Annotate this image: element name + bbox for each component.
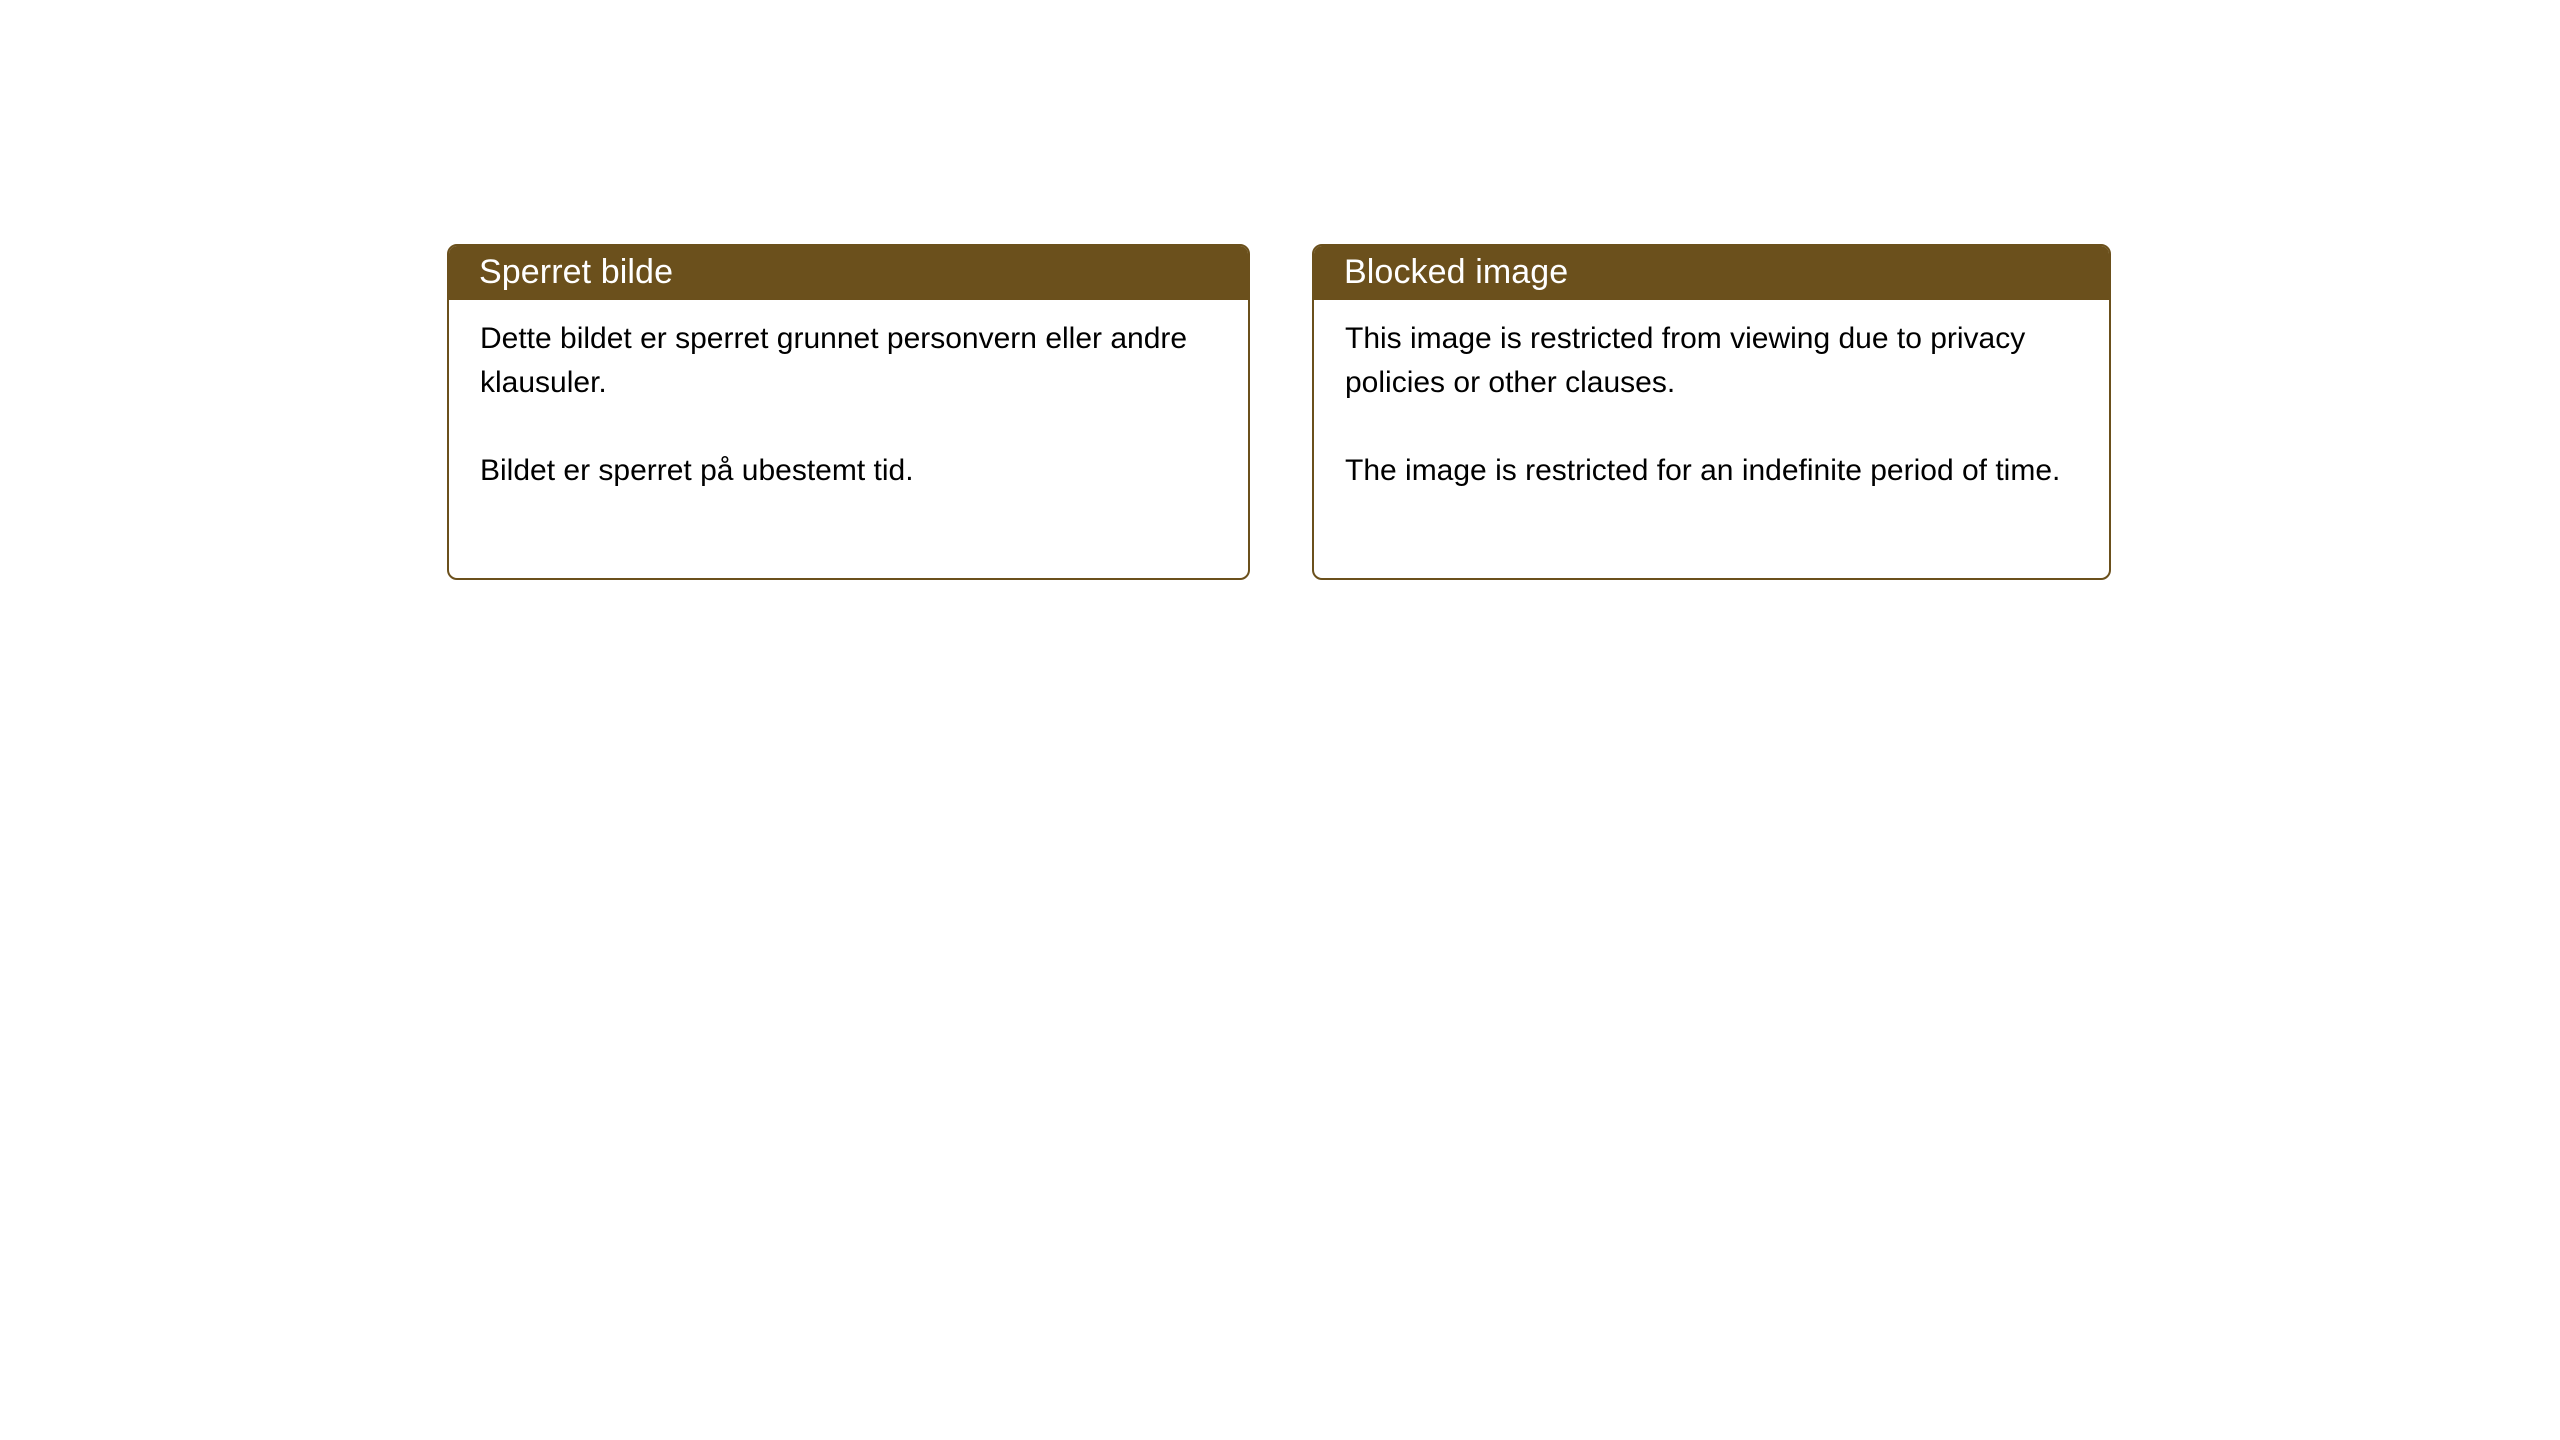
blocked-image-notice-card-en: Blocked image This image is restricted f… (1312, 244, 2111, 580)
card-body-no: Dette bildet er sperret grunnet personve… (449, 300, 1248, 493)
card-header-en: Blocked image (1312, 244, 2111, 300)
card-paragraph-duration-en: The image is restricted for an indefinit… (1345, 449, 2079, 493)
page-canvas: Sperret bilde Dette bildet er sperret gr… (0, 0, 2560, 1440)
card-body-en: This image is restricted from viewing du… (1314, 300, 2109, 493)
card-title-en: Blocked image (1344, 255, 1568, 289)
card-header-no: Sperret bilde (447, 244, 1250, 300)
card-paragraph-reason-no: Dette bildet er sperret grunnet personve… (480, 317, 1218, 405)
blocked-image-notice-card-no: Sperret bilde Dette bildet er sperret gr… (447, 244, 1250, 580)
card-paragraph-reason-en: This image is restricted from viewing du… (1345, 317, 2079, 405)
card-title-no: Sperret bilde (479, 255, 673, 289)
card-paragraph-duration-no: Bildet er sperret på ubestemt tid. (480, 449, 1218, 493)
